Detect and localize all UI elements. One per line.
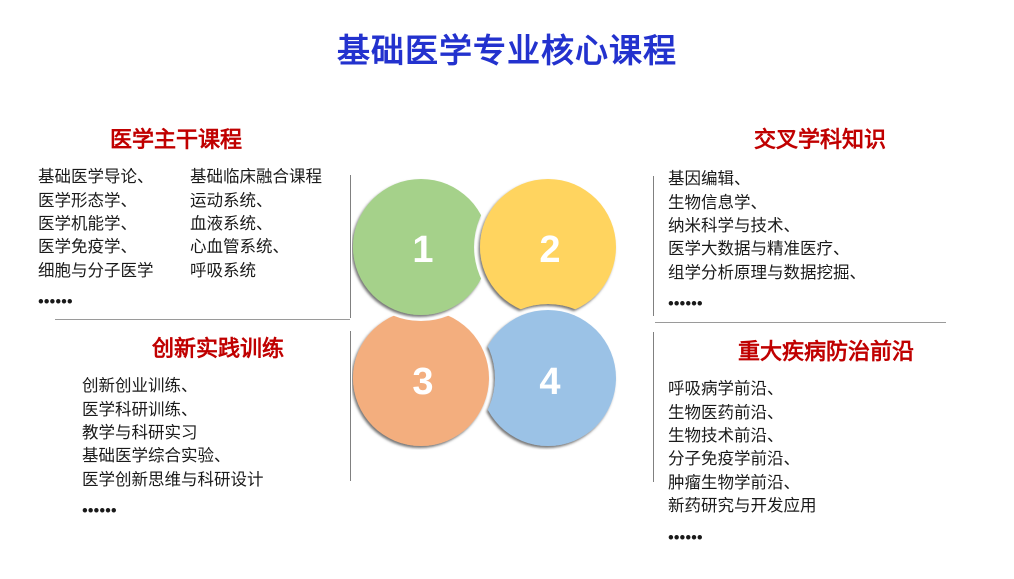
section-heading-top-right: 交叉学科知识	[668, 128, 998, 152]
innovation-list: 创新创业训练、 医学科研训练、 教学与科研实习 基础医学综合实验、 医学创新思维…	[82, 375, 362, 492]
list-item: 医学创新思维与科研设计	[82, 469, 362, 492]
list-item: 医学科研训练、	[82, 399, 362, 422]
divider-horizontal-left	[55, 319, 350, 320]
list-item: 纳米科学与技术、	[668, 215, 998, 238]
section-medical-core-courses: 医学主干课程 基础医学导论、 医学形态学、 医学机能学、 医学免疫学、 细胞与分…	[38, 128, 358, 313]
list-item: 运动系统、	[190, 190, 358, 213]
section-heading-bottom-left: 创新实践训练	[82, 337, 362, 361]
list-item: 心血管系统、	[190, 236, 358, 259]
list-item: 组学分析原理与数据挖掘、	[668, 262, 998, 285]
list-item: 呼吸病学前沿、	[668, 378, 998, 401]
list-item: 医学机能学、	[38, 213, 190, 236]
list-item: 生物医药前沿、	[668, 402, 998, 425]
interdisciplinary-list: 基因编辑、 生物信息学、 纳米科学与技术、 医学大数据与精准医疗、 组学分析原理…	[668, 168, 998, 285]
section-major-disease-prevention-frontiers: 重大疾病防治前沿 呼吸病学前沿、 生物医药前沿、 生物技术前沿、 分子免疫学前沿…	[668, 340, 998, 549]
course-column-1: 基础医学导论、 医学形态学、 医学机能学、 医学免疫学、 细胞与分子医学	[38, 166, 190, 283]
list-item: 生物信息学、	[668, 192, 998, 215]
four-segment-diagram: 1 2 3 4	[352, 178, 620, 450]
list-item: 基础临床融合课程	[190, 166, 358, 189]
list-item: 新药研究与开发应用	[668, 495, 998, 518]
list-item: 基础医学综合实验、	[82, 445, 362, 468]
list-item: 分子免疫学前沿、	[668, 448, 998, 471]
list-item: 医学大数据与精准医疗、	[668, 238, 998, 261]
course-column-2: 基础临床融合课程 运动系统、 血液系统、 心血管系统、 呼吸系统	[190, 166, 358, 283]
diagram-segment-4-number: 4	[539, 361, 560, 403]
course-columns: 基础医学导论、 医学形态学、 医学机能学、 医学免疫学、 细胞与分子医学 基础临…	[38, 166, 358, 283]
list-item: 血液系统、	[190, 213, 358, 236]
ellipsis-top-right: ••••••	[668, 295, 998, 315]
section-heading-top-left: 医学主干课程	[38, 128, 358, 152]
list-item: 创新创业训练、	[82, 375, 362, 398]
ellipsis-bottom-right: ••••••	[668, 529, 998, 549]
list-item: 教学与科研实习	[82, 422, 362, 445]
ellipsis-bottom-left: ••••••	[82, 502, 362, 522]
list-item: 呼吸系统	[190, 260, 358, 283]
divider-vertical-bottom-right	[653, 332, 654, 482]
disease-frontier-list: 呼吸病学前沿、 生物医药前沿、 生物技术前沿、 分子免疫学前沿、 肿瘤生物学前沿…	[668, 378, 998, 519]
slide-canvas: 基础医学专业核心课程 医学主干课程 基础医学导论、 医学形态学、 医学机能学、 …	[0, 0, 1014, 579]
section-innovation-practice-training: 创新实践训练 创新创业训练、 医学科研训练、 教学与科研实习 基础医学综合实验、…	[82, 337, 362, 522]
list-item: 基因编辑、	[668, 168, 998, 191]
list-item: 细胞与分子医学	[38, 260, 190, 283]
list-item: 医学形态学、	[38, 190, 190, 213]
list-item: 生物技术前沿、	[668, 425, 998, 448]
divider-vertical-top-right	[653, 176, 654, 316]
list-item: 肿瘤生物学前沿、	[668, 472, 998, 495]
divider-horizontal-right	[655, 322, 946, 323]
diagram-segment-4[interactable]: 4	[352, 178, 620, 450]
ellipsis-top-left: ••••••	[38, 293, 358, 313]
list-item: 医学免疫学、	[38, 236, 190, 259]
page-title: 基础医学专业核心课程	[0, 24, 1014, 72]
list-item: 基础医学导论、	[38, 166, 190, 189]
section-heading-bottom-right: 重大疾病防治前沿	[668, 340, 998, 364]
section-interdisciplinary-knowledge: 交叉学科知识 基因编辑、 生物信息学、 纳米科学与技术、 医学大数据与精准医疗、…	[668, 128, 998, 315]
